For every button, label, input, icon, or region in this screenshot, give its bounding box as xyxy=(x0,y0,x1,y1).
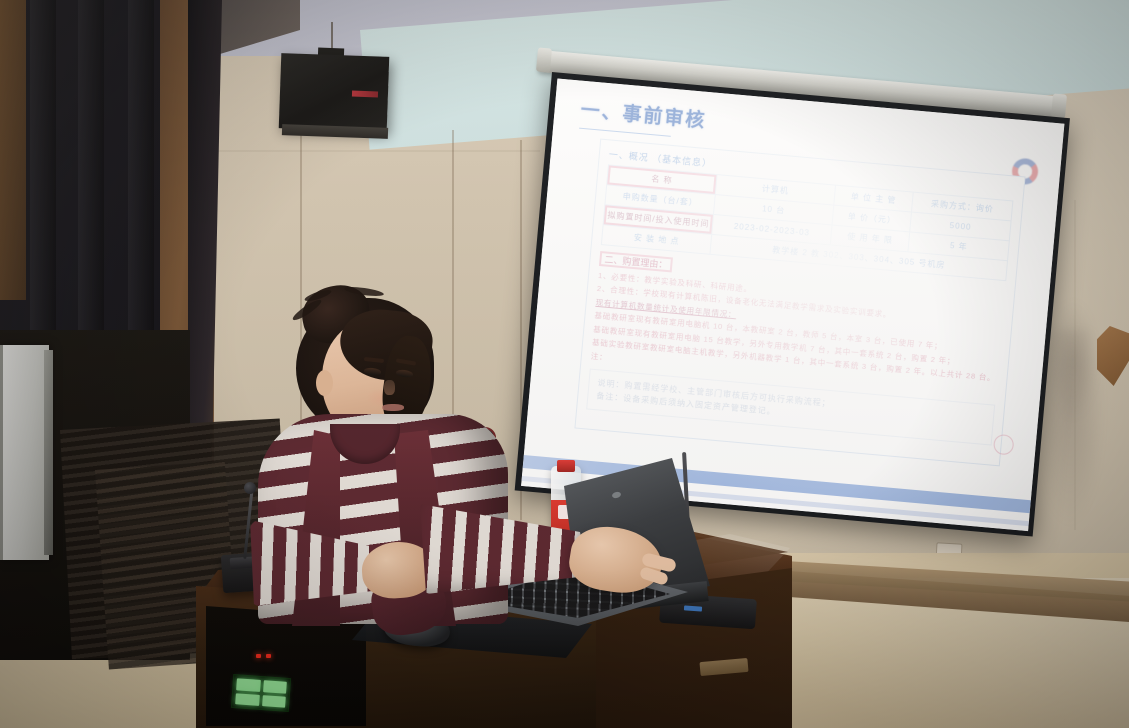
photo-scene: 一、事前审核 一、概况 （基本信息） 名 称 计算机 单 位 主 管 采购方式：… xyxy=(0,0,1129,728)
screen-surface: 一、事前审核 一、概况 （基本信息） 名 称 计算机 单 位 主 管 采购方式：… xyxy=(521,79,1064,532)
led-segment xyxy=(263,680,287,693)
approval-seal-icon xyxy=(993,434,1015,456)
whiteboard-panel xyxy=(0,345,49,560)
ear xyxy=(316,370,333,396)
led-segment xyxy=(262,695,286,708)
rack-level-meter xyxy=(231,674,291,712)
rack-led-red xyxy=(266,654,271,658)
slide-content-box: 一、概况 （基本信息） 名 称 计算机 单 位 主 管 采购方式：询价 申购数量… xyxy=(574,139,1025,467)
rack-led-red xyxy=(256,654,261,658)
note-box: 说明：购置需经学校、主管部门审核后方可执行采购流程； 备注：设备采购后须纳入固定… xyxy=(586,368,995,445)
presenter xyxy=(244,284,534,614)
whiteboard-edge xyxy=(44,350,53,555)
title-underline xyxy=(579,128,671,137)
screen-housing-cap-right xyxy=(1051,93,1067,118)
reasons-heading: 二、购置理由： xyxy=(599,251,673,272)
led-segment xyxy=(235,693,259,706)
water-bottle-cap xyxy=(557,460,575,472)
projection-screen: 一、事前审核 一、概况 （基本信息） 名 称 计算机 单 位 主 管 采购方式：… xyxy=(515,72,1070,537)
presentation-slide: 一、事前审核 一、概况 （基本信息） 名 称 计算机 单 位 主 管 采购方式：… xyxy=(521,79,1064,532)
nose xyxy=(384,380,395,395)
wood-trim-left xyxy=(0,0,26,300)
speaker-logo-badge xyxy=(352,91,378,98)
screen-housing-cap-left xyxy=(536,47,552,72)
mouth xyxy=(382,404,404,411)
wall-stain-2 xyxy=(1050,300,1096,420)
wall-seam-4 xyxy=(180,150,540,152)
speaker-cable xyxy=(331,22,333,50)
led-segment xyxy=(236,678,260,691)
